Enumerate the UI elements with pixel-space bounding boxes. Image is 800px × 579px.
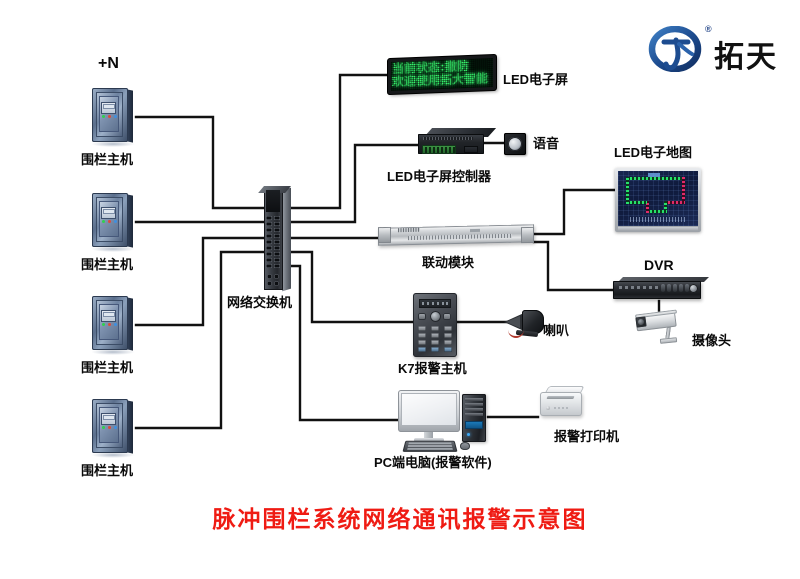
dvr-icon[interactable] xyxy=(613,277,705,301)
led-map-seg-notch-top xyxy=(664,201,685,204)
led-map-label: LED电子地图 xyxy=(614,146,692,159)
led-controller-terminal-block xyxy=(422,145,456,154)
led-map-icon[interactable] xyxy=(615,168,701,232)
voice-speaker-icon[interactable] xyxy=(504,133,526,155)
diagram-canvas: ® 拓天 +N 围栏主机 围栏主机 xyxy=(0,0,800,579)
fence-host-screen xyxy=(103,312,115,317)
fence-host-icon[interactable] xyxy=(90,88,136,146)
cctv-camera-icon[interactable] xyxy=(630,312,688,348)
switch-ports xyxy=(266,216,281,272)
printer-paper-slot xyxy=(546,396,574,399)
switch-header-block xyxy=(266,190,280,212)
dvr-buttons xyxy=(661,284,691,293)
fence-host-label-2: 围栏主机 xyxy=(81,258,133,271)
voice-speaker-driver xyxy=(508,137,522,151)
fence-host-led-green xyxy=(102,323,105,326)
led-map-screen xyxy=(618,171,698,226)
led-map-seg-notch-bottom xyxy=(646,210,667,213)
alarm-keypad-controls xyxy=(418,311,452,323)
led-display-icon[interactable]: 当前状态:撤防 欢迎使用拓大智能 xyxy=(388,57,496,92)
led-display-screen: 当前状态:撤防 欢迎使用拓大智能 xyxy=(391,58,493,91)
dvr-jog-dial xyxy=(689,284,698,293)
fence-host-icon[interactable] xyxy=(90,399,136,457)
led-controller-icon[interactable] xyxy=(418,128,490,158)
camera-label: 摄像头 xyxy=(692,334,731,347)
printer-button xyxy=(546,406,550,410)
fence-host-label-4: 围栏主机 xyxy=(81,464,133,477)
fence-host-led-red xyxy=(108,115,111,118)
printer-icon[interactable] xyxy=(538,386,586,419)
pc-label: PC端电脑(报警软件) xyxy=(374,456,492,469)
pc-keyboard xyxy=(402,441,457,452)
led-display-line-2: 欢迎使用拓大智能 xyxy=(392,72,492,89)
led-map-caption-strip xyxy=(630,217,686,222)
pc-monitor-screen xyxy=(401,393,457,426)
fence-host-screen xyxy=(103,415,115,420)
pc-mouse xyxy=(460,442,470,450)
fence-host-shadow xyxy=(91,142,135,147)
fence-host-label-3: 围栏主机 xyxy=(81,361,133,374)
led-controller-label: LED电子屏控制器 xyxy=(387,170,491,183)
led-map-base xyxy=(618,227,698,231)
printer-label-strip xyxy=(554,407,570,409)
fence-host-led-red xyxy=(108,220,111,223)
fence-host-icon[interactable] xyxy=(90,193,136,251)
registered-mark: ® xyxy=(705,24,712,34)
multiplier-label: +N xyxy=(98,56,119,72)
switch-uplink-ports xyxy=(267,274,280,288)
printer-label: 报警打印机 xyxy=(554,430,619,443)
led-controller-vent xyxy=(423,137,473,140)
led-map-seg-left-mid xyxy=(626,201,647,204)
linkage-module-rack-ear-left xyxy=(378,227,391,243)
pc-tower xyxy=(462,394,486,442)
fence-host-shadow xyxy=(91,247,135,252)
fence-host-led-green xyxy=(102,115,105,118)
horn-cone-inner xyxy=(506,316,520,328)
alarm-keypad-buttons xyxy=(418,326,452,352)
network-switch-icon[interactable] xyxy=(262,186,292,290)
voice-label: 语音 xyxy=(533,137,559,150)
camera-mount xyxy=(660,337,677,344)
dvr-brand-text xyxy=(619,286,659,289)
brand-name: 拓天 xyxy=(714,32,778,76)
diagram-title: 脉冲围栏系统网络通讯报警示意图 xyxy=(0,500,800,534)
led-controller-port xyxy=(464,146,478,153)
linkage-module-brand-tag xyxy=(398,228,420,232)
linkage-module-label: 联动模块 xyxy=(422,256,474,269)
led-map-seg-gate xyxy=(648,173,660,177)
linkage-module-mark xyxy=(470,229,480,232)
fence-host-screen xyxy=(103,104,115,109)
switch-depth xyxy=(282,188,291,292)
horn-wires xyxy=(508,330,524,338)
linkage-module-icon[interactable] xyxy=(378,226,534,248)
network-switch-label: 网络交换机 xyxy=(227,296,292,309)
led-display-label: LED电子屏 xyxy=(503,73,568,86)
fence-host-shadow xyxy=(91,453,135,458)
fence-host-shadow xyxy=(91,350,135,355)
alarm-keypad-label: K7报警主机 xyxy=(398,362,467,375)
alarm-keypad-icon[interactable] xyxy=(413,293,457,357)
led-map-seg-top xyxy=(626,177,684,180)
fence-host-led-red xyxy=(108,426,111,429)
led-map-seg-left xyxy=(626,177,629,204)
led-map-seg-right-upper xyxy=(682,177,685,203)
alarm-keypad-display xyxy=(419,299,451,308)
fence-host-led-blue xyxy=(114,323,117,326)
pc-power-led xyxy=(467,433,470,436)
linkage-module-rack-ear-right xyxy=(521,227,534,243)
fence-host-led-green xyxy=(102,426,105,429)
fence-host-led-green xyxy=(102,220,105,223)
fence-host-screen xyxy=(103,209,115,214)
horn-label: 喇叭 xyxy=(543,324,569,337)
desktop-computer-icon[interactable] xyxy=(398,390,494,452)
company-emblem-icon xyxy=(648,26,710,72)
fence-host-icon[interactable] xyxy=(90,296,136,354)
brand-logo: ® 拓天 xyxy=(648,24,793,76)
fence-host-led-blue xyxy=(114,115,117,118)
fence-host-led-red xyxy=(108,323,111,326)
fence-host-label-1: 围栏主机 xyxy=(81,153,133,166)
pc-tower-panel xyxy=(465,421,483,429)
fence-host-led-blue xyxy=(114,220,117,223)
dvr-label: DVR xyxy=(644,258,674,272)
fence-host-led-blue xyxy=(114,426,117,429)
